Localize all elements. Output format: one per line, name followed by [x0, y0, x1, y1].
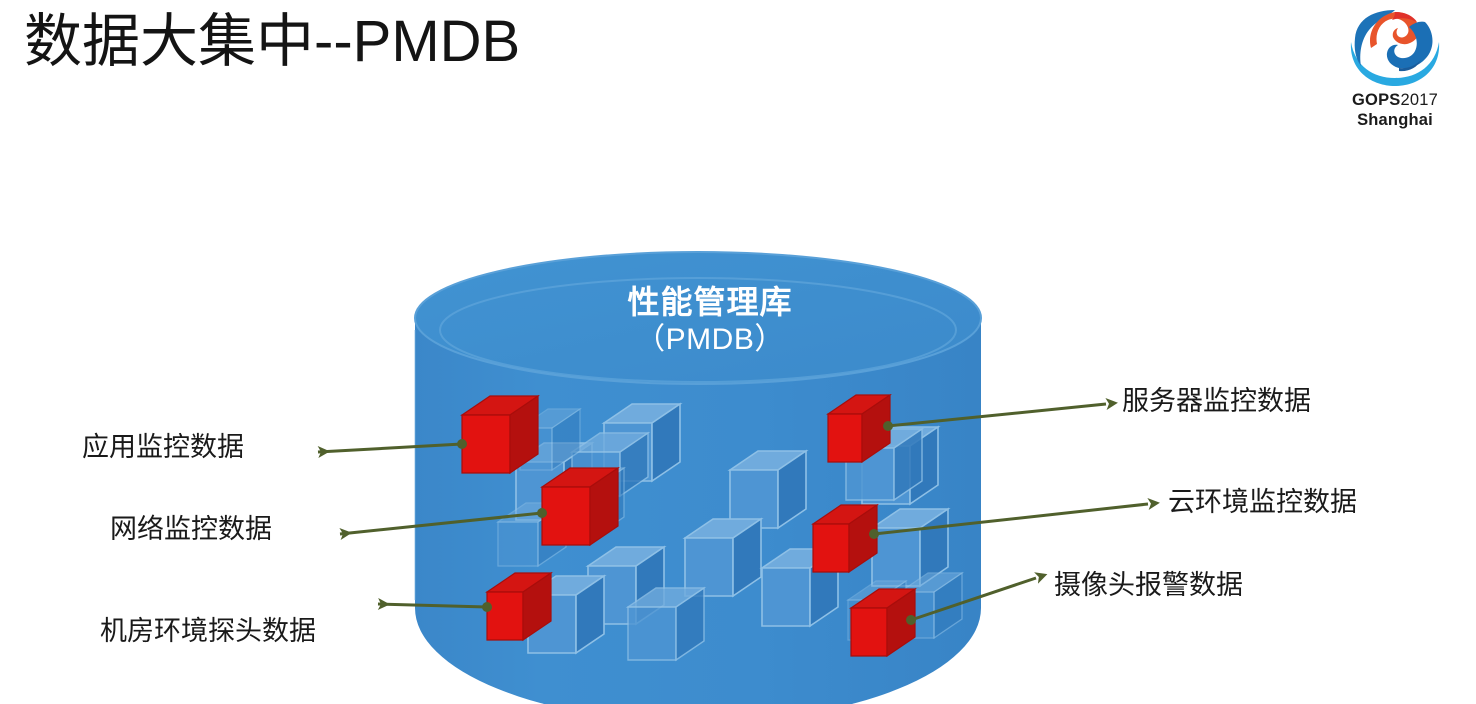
red-cube-network-monitor [542, 468, 618, 545]
callout-label-network-monitor: 网络监控数据 [110, 516, 272, 543]
callout-label-cloud-monitor: 云环境监控数据 [1168, 489, 1357, 516]
arrow-anchor-dot [869, 529, 879, 539]
blue-cube [730, 451, 806, 528]
blue-cube [628, 588, 704, 660]
arrow-anchor-dot [482, 602, 492, 612]
pmdb-diagram-svg [0, 0, 1476, 704]
arrow-anchor-dot [883, 421, 893, 431]
arrow-anchor-dot [537, 508, 547, 518]
callout-label-camera-alarm: 摄像头报警数据 [1054, 572, 1243, 599]
arrow-anchor-dot [906, 615, 916, 625]
callout-label-server-monitor: 服务器监控数据 [1122, 388, 1311, 415]
callout-label-app-monitor: 应用监控数据 [82, 434, 244, 461]
blue-cube [685, 519, 761, 596]
red-cube-app-monitor [462, 396, 538, 473]
arrow-anchor-dot [457, 439, 467, 449]
diagram-stage [0, 0, 1476, 704]
callout-label-datacenter-probe: 机房环境探头数据 [100, 618, 316, 645]
